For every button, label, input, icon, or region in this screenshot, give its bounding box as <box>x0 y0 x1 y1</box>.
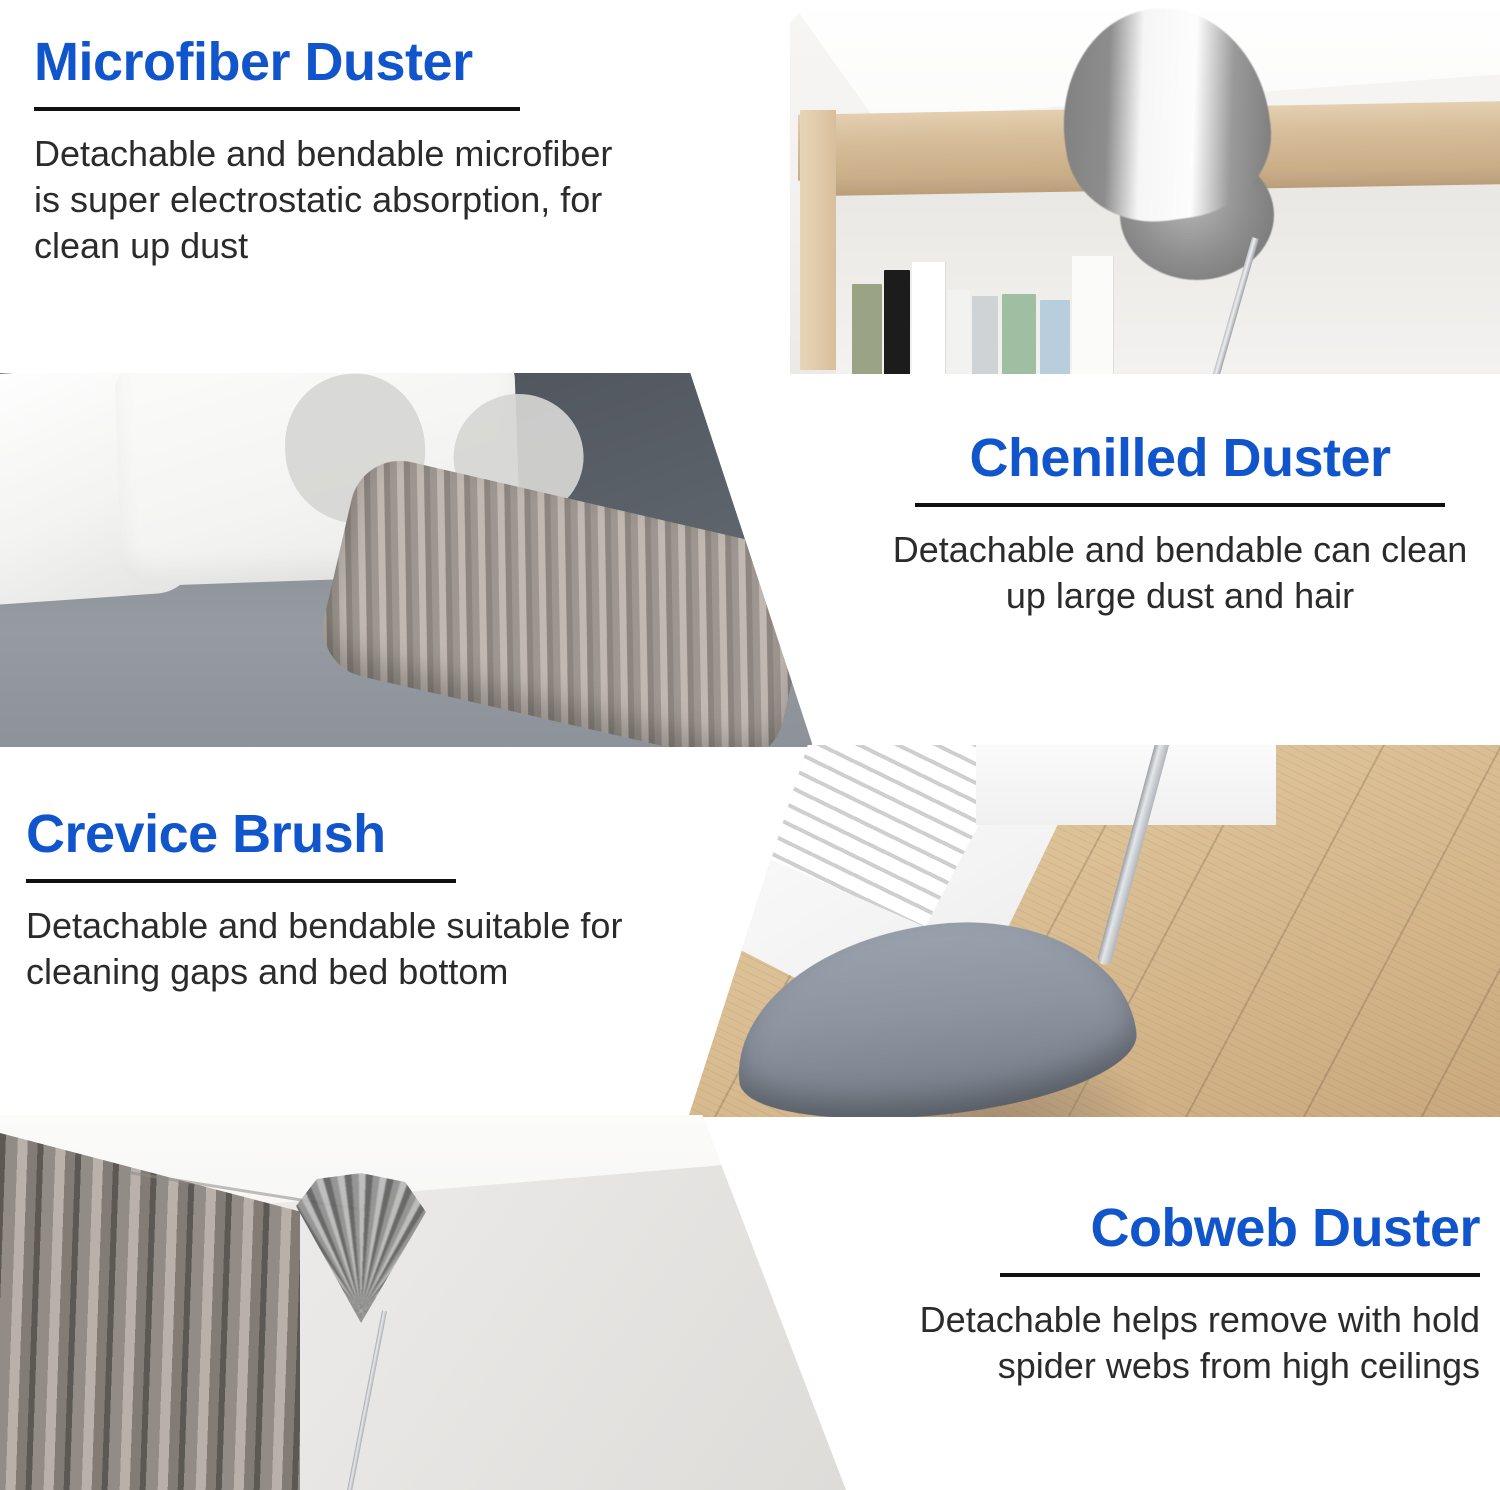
feature-title-chenilled-duster: Chenilled Duster <box>880 430 1480 487</box>
photo-floor-crevice-brush <box>676 745 1500 1117</box>
feature-title-microfiber-duster: Microfiber Duster <box>34 34 634 91</box>
white-cabinet-panel <box>976 745 1276 825</box>
book-item <box>1072 256 1114 374</box>
photo-sofa-chenille-duster <box>0 373 812 747</box>
feature-block-microfiber-duster: Microfiber Duster Detachable and bendabl… <box>34 34 634 269</box>
book-item <box>852 284 882 374</box>
photo-bookshelf-microfiber-duster <box>790 0 1500 374</box>
feature-title-crevice-brush: Crevice Brush <box>26 806 666 863</box>
feature-title-cobweb-duster: Cobweb Duster <box>880 1200 1480 1257</box>
feature-description-chenilled-duster: Detachable and bendable can clean up lar… <box>880 527 1480 619</box>
feature-description-cobweb-duster: Detachable helps remove with hold spider… <box>880 1297 1480 1389</box>
feature-divider-crevice-brush <box>26 879 456 883</box>
feature-block-chenilled-duster: Chenilled Duster Detachable and bendable… <box>880 430 1480 619</box>
book-item <box>884 270 910 374</box>
feature-description-microfiber-duster: Detachable and bendable microfiber is su… <box>34 131 634 269</box>
book-item <box>1002 294 1036 374</box>
photo-ceiling-cobweb-duster <box>0 1115 846 1490</box>
book-item <box>1040 300 1070 374</box>
feature-divider-chenilled-duster <box>915 503 1445 507</box>
book-item <box>912 262 946 374</box>
feature-divider-microfiber-duster <box>34 107 520 111</box>
book-item <box>948 290 970 374</box>
feature-divider-cobweb-duster <box>1000 1273 1480 1277</box>
feature-block-cobweb-duster: Cobweb Duster Detachable helps remove wi… <box>880 1200 1480 1389</box>
infographic-canvas: Microfiber Duster Detachable and bendabl… <box>0 0 1500 1490</box>
bookshelf-side-board <box>800 110 836 370</box>
book-item <box>972 296 998 374</box>
feature-block-crevice-brush: Crevice Brush Detachable and bendable su… <box>26 806 666 995</box>
feature-description-crevice-brush: Detachable and bendable suitable for cle… <box>26 903 666 995</box>
